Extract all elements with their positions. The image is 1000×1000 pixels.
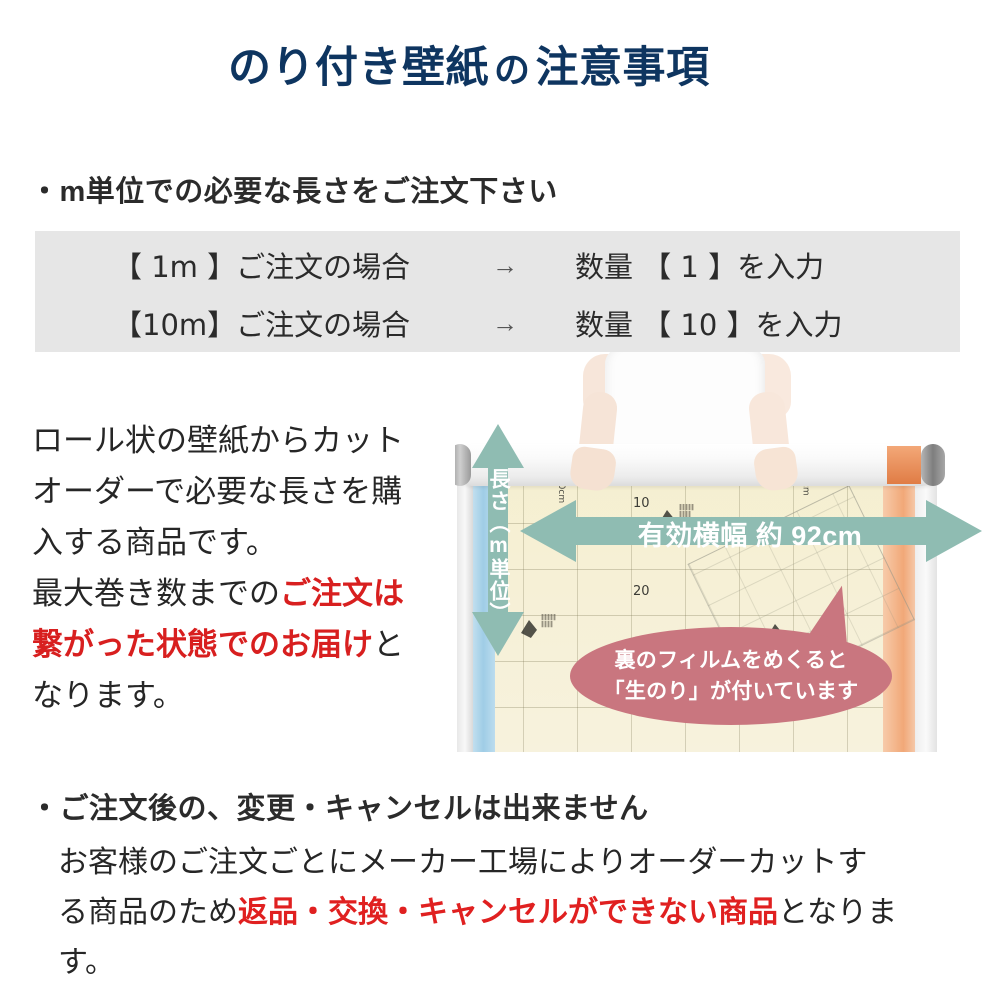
order-example-box: 【 1m 】ご注文の場合 → 数量 【 1 】を入力 【10m】ご注文の場合 →… <box>35 231 960 352</box>
description-line-4-plain: 最大巻き数までの <box>32 576 280 611</box>
arrow-right-icon: → <box>492 250 518 281</box>
cancel-body-part-2: る商品のため <box>58 896 238 929</box>
wallpaper-roll-cap-right <box>921 444 945 486</box>
width-arrow-label: 有効横幅 約 92cm <box>560 514 940 553</box>
page-title-suffix: 注意事項 <box>536 44 710 92</box>
description-line-3: 入する商品です。 <box>32 525 277 560</box>
page-title-main: のり付き壁紙 <box>228 44 489 92</box>
wallpaper-roll-cap-left <box>455 444 471 486</box>
description-line-4-highlight: ご注文は <box>280 576 404 611</box>
wallpaper-roll-tube <box>455 444 943 486</box>
order-amount-label: 【10m】ご注文の場合 <box>113 302 410 344</box>
wallpaper-notice-page: のり付き壁紙の注意事項 ・m単位での必要な長さをご注文下さい 【 1m 】ご注文… <box>0 0 1000 1000</box>
description-line-5-highlight: 繋がった状態でのお届け <box>32 627 373 662</box>
description-line-1: ロール状の壁紙からカット <box>32 423 404 458</box>
cancel-body-part-1: お客様のご注文ごとにメーカー工場によりオーダーカットす <box>58 846 867 879</box>
grid-number: 20 <box>633 584 650 599</box>
cancel-body-part-4: す。 <box>58 946 115 979</box>
cancel-policy-text: お客様のご注文ごとにメーカー工場によりオーダーカットす る商品のため返品・交換・… <box>58 838 978 988</box>
page-title: のり付き壁紙の注意事項 <box>228 44 710 93</box>
order-quantity-label: 数量 【 1 】を入力 <box>575 244 824 286</box>
cancel-body-highlight: 返品・交換・キャンセルができない商品 <box>238 896 778 929</box>
order-example-row: 【 1m 】ご注文の場合 → 数量 【 1 】を入力 <box>35 235 960 295</box>
description-line-6: なります。 <box>32 678 184 713</box>
model-torso <box>605 352 765 458</box>
arrow-right-icon: → <box>492 308 518 339</box>
order-example-row: 【10m】ご注文の場合 → 数量 【 10 】を入力 <box>35 293 960 353</box>
wallpaper-fine-print: ‖‖‖‖‖‖‖‖‖ <box>541 614 593 628</box>
cancel-body-part-3: となりま <box>778 896 897 929</box>
page-title-connector: の <box>489 49 536 90</box>
wallpaper-film-left <box>457 460 473 752</box>
speech-bubble-line-1: 裏のフィルムをめくると <box>614 649 847 672</box>
order-section-heading: ・m単位での必要な長さをご注文下さい <box>30 168 558 210</box>
wallpaper-roll-orange-band <box>887 446 921 484</box>
product-description-text: ロール状の壁紙からカット オーダーで必要な長さを購 入する商品です。 最大巻き数… <box>32 415 452 721</box>
description-line-2: オーダーで必要な長さを購 <box>32 474 402 509</box>
description-line-5-plain: と <box>373 627 404 662</box>
order-amount-label: 【 1m 】ご注文の場合 <box>113 244 410 286</box>
speech-bubble-line-2: 「生のり」が付いています <box>604 680 859 703</box>
speech-bubble-text: 裏のフィルムをめくると 「生のり」が付いています <box>570 645 892 707</box>
order-quantity-label: 数量 【 10 】を入力 <box>575 302 843 344</box>
length-arrow-label: 長さ（m単位） <box>479 468 517 618</box>
cancel-section-heading: ・ご注文後の、変更・キャンセルは出来ません <box>30 785 649 827</box>
